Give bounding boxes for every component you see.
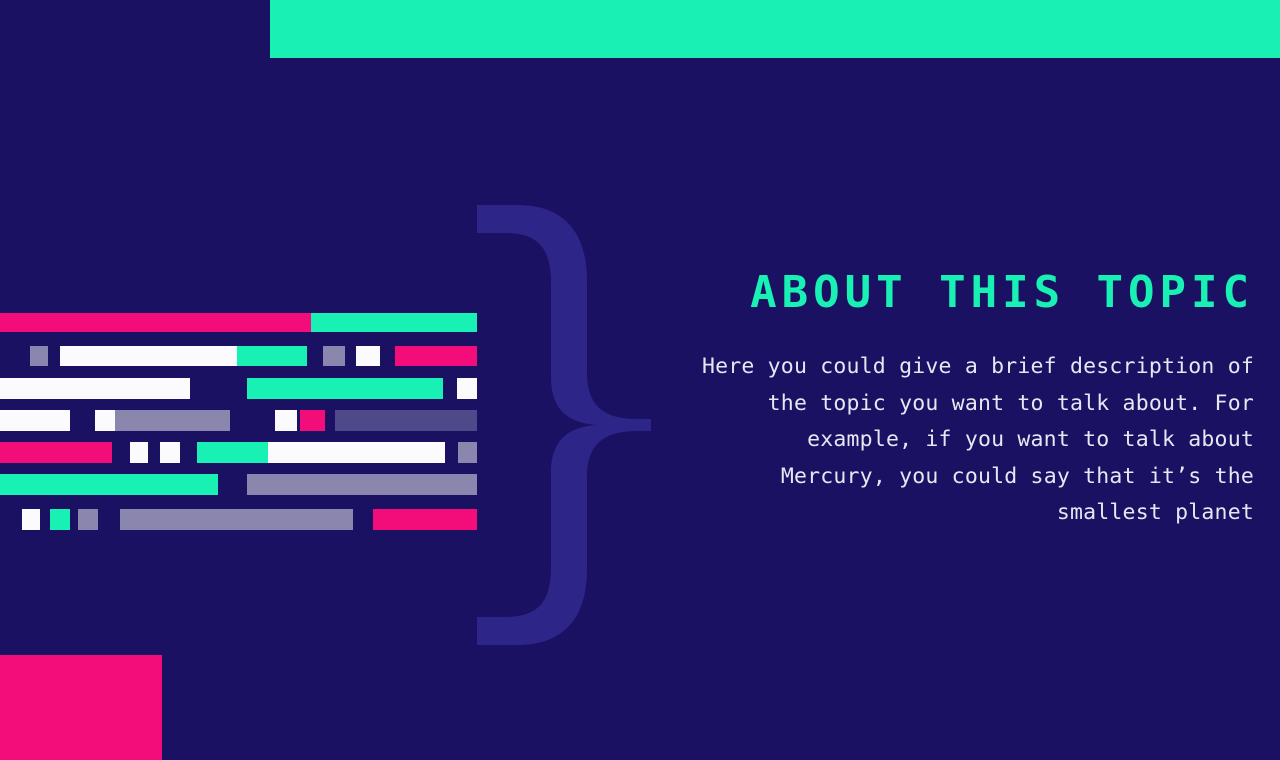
- code-mosaic-chunk: [457, 378, 477, 399]
- bottom-left-accent-block: [0, 655, 162, 760]
- text-column: ABOUT THIS TOPIC Here you could give a b…: [698, 265, 1254, 532]
- code-mosaic-chunk: [268, 442, 445, 463]
- top-accent-bar: [270, 0, 1280, 58]
- code-mosaic-row: [0, 442, 480, 463]
- presentation-slide: ABOUT THIS TOPIC Here you could give a b…: [0, 0, 1280, 760]
- code-mosaic-chunk: [356, 346, 380, 366]
- code-mosaic-chunk: [458, 442, 477, 463]
- curly-brace-decoration: [455, 205, 665, 645]
- code-mosaic-row: [0, 313, 480, 332]
- code-mosaic-chunk: [160, 442, 180, 463]
- code-mosaic-chunk: [395, 346, 477, 366]
- code-mosaic-chunk: [323, 346, 345, 366]
- code-mosaic-row: [0, 346, 480, 366]
- body-paragraph: Here you could give a brief description …: [698, 349, 1254, 532]
- code-mosaic-row: [0, 509, 480, 530]
- code-mosaic-chunk: [120, 509, 353, 530]
- code-mosaic-chunk: [311, 313, 477, 332]
- code-mosaic-chunk: [0, 442, 112, 463]
- code-mosaic-chunk: [0, 313, 311, 332]
- code-mosaic-decoration: [0, 313, 480, 531]
- code-mosaic-chunk: [197, 442, 268, 463]
- code-mosaic-chunk: [275, 410, 297, 431]
- code-mosaic-chunk: [247, 474, 477, 495]
- code-mosaic-chunk: [373, 509, 477, 530]
- code-mosaic-chunk: [22, 509, 40, 530]
- code-mosaic-chunk: [0, 474, 218, 495]
- code-mosaic-chunk: [130, 442, 148, 463]
- page-title: ABOUT THIS TOPIC: [698, 265, 1254, 321]
- code-mosaic-chunk: [0, 378, 190, 399]
- code-mosaic-chunk: [30, 346, 48, 366]
- code-mosaic-row: [0, 474, 480, 495]
- code-mosaic-chunk: [300, 410, 325, 431]
- code-mosaic-chunk: [0, 410, 70, 431]
- code-mosaic-chunk: [335, 410, 477, 431]
- code-mosaic-row: [0, 378, 480, 399]
- code-mosaic-chunk: [60, 346, 237, 366]
- code-mosaic-row: [0, 410, 480, 431]
- code-mosaic-chunk: [50, 509, 70, 530]
- code-mosaic-chunk: [115, 410, 230, 431]
- code-mosaic-chunk: [78, 509, 98, 530]
- code-mosaic-chunk: [247, 378, 443, 399]
- code-mosaic-chunk: [237, 346, 307, 366]
- code-mosaic-chunk: [95, 410, 115, 431]
